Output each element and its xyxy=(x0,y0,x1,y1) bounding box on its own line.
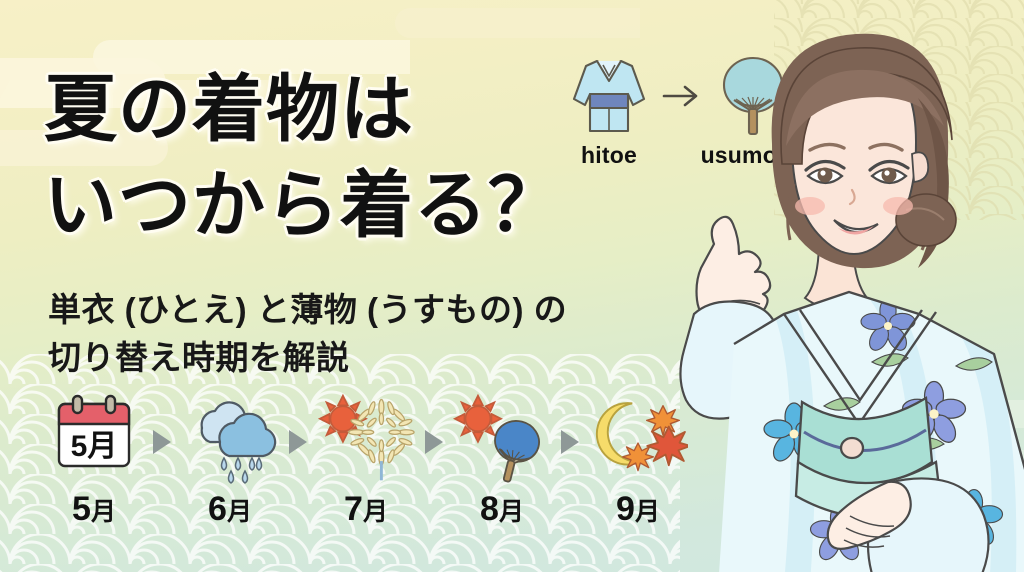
page-subtitle-line-2: 切り替え時期を解説 xyxy=(48,334,648,382)
timeline-month-august-label: 8月 xyxy=(480,490,524,529)
page-subtitle-line-1: 単衣 (ひとえ) と薄物 (うすもの) の xyxy=(48,286,648,334)
timeline-month-august: 8月 xyxy=(452,392,552,529)
timeline-month-september-label: 9月 xyxy=(616,490,660,529)
triangle-right-icon xyxy=(416,396,452,488)
timeline-month-july: 7月 xyxy=(316,392,416,529)
month-number: 9 xyxy=(616,490,635,528)
timeline-month-september: 9月 xyxy=(588,392,688,529)
calendar-month-text: 5月 xyxy=(71,430,118,463)
triangle-right-icon xyxy=(552,396,588,488)
month-unit: 月 xyxy=(363,498,388,526)
page-title: 夏の着物は いつから着る？ xyxy=(44,62,644,255)
sun-fan-icon xyxy=(452,392,552,484)
timeline-month-june-label: 6月 xyxy=(208,490,252,529)
kimono-icon xyxy=(570,52,648,140)
month-unit: 月 xyxy=(227,498,252,526)
flow-item-hitoe-label: hitoe xyxy=(581,142,637,169)
flow-item-hitoe: hitoe xyxy=(560,52,658,169)
triangle-right-icon xyxy=(280,396,316,488)
poster-canvas: 夏の着物は いつから着る？ 単衣 (ひとえ) と薄物 (うすもの) の 切り替え… xyxy=(0,0,1024,572)
moon-maple-leaves-icon xyxy=(588,392,688,484)
month-unit: 月 xyxy=(635,498,660,526)
month-number: 5 xyxy=(72,490,91,528)
timeline-month-may: 5月 5月 xyxy=(44,392,144,529)
timeline-month-july-label: 7月 xyxy=(344,490,388,529)
month-number: 8 xyxy=(480,490,499,528)
month-timeline: 5月 5月 xyxy=(44,392,684,529)
sun-fireworks-icon xyxy=(316,392,416,484)
kasumi-cloud-icon xyxy=(380,0,640,60)
triangle-right-icon xyxy=(144,396,180,488)
page-title-line-2: いつから着る？ xyxy=(44,158,644,254)
timeline-month-june: 6月 xyxy=(180,392,280,529)
page-subtitle: 単衣 (ひとえ) と薄物 (うすもの) の 切り替え時期を解説 xyxy=(48,286,648,382)
month-unit: 月 xyxy=(499,498,524,526)
month-unit: 月 xyxy=(91,498,116,526)
month-number: 7 xyxy=(344,490,363,528)
calendar-icon: 5月 xyxy=(44,392,144,484)
rain-cloud-icon xyxy=(180,392,280,484)
woman-in-yukata-illustration xyxy=(674,14,1024,572)
page-title-line-1: 夏の着物は xyxy=(44,62,644,158)
month-number: 6 xyxy=(208,490,227,528)
timeline-month-may-label: 5月 xyxy=(72,490,116,529)
